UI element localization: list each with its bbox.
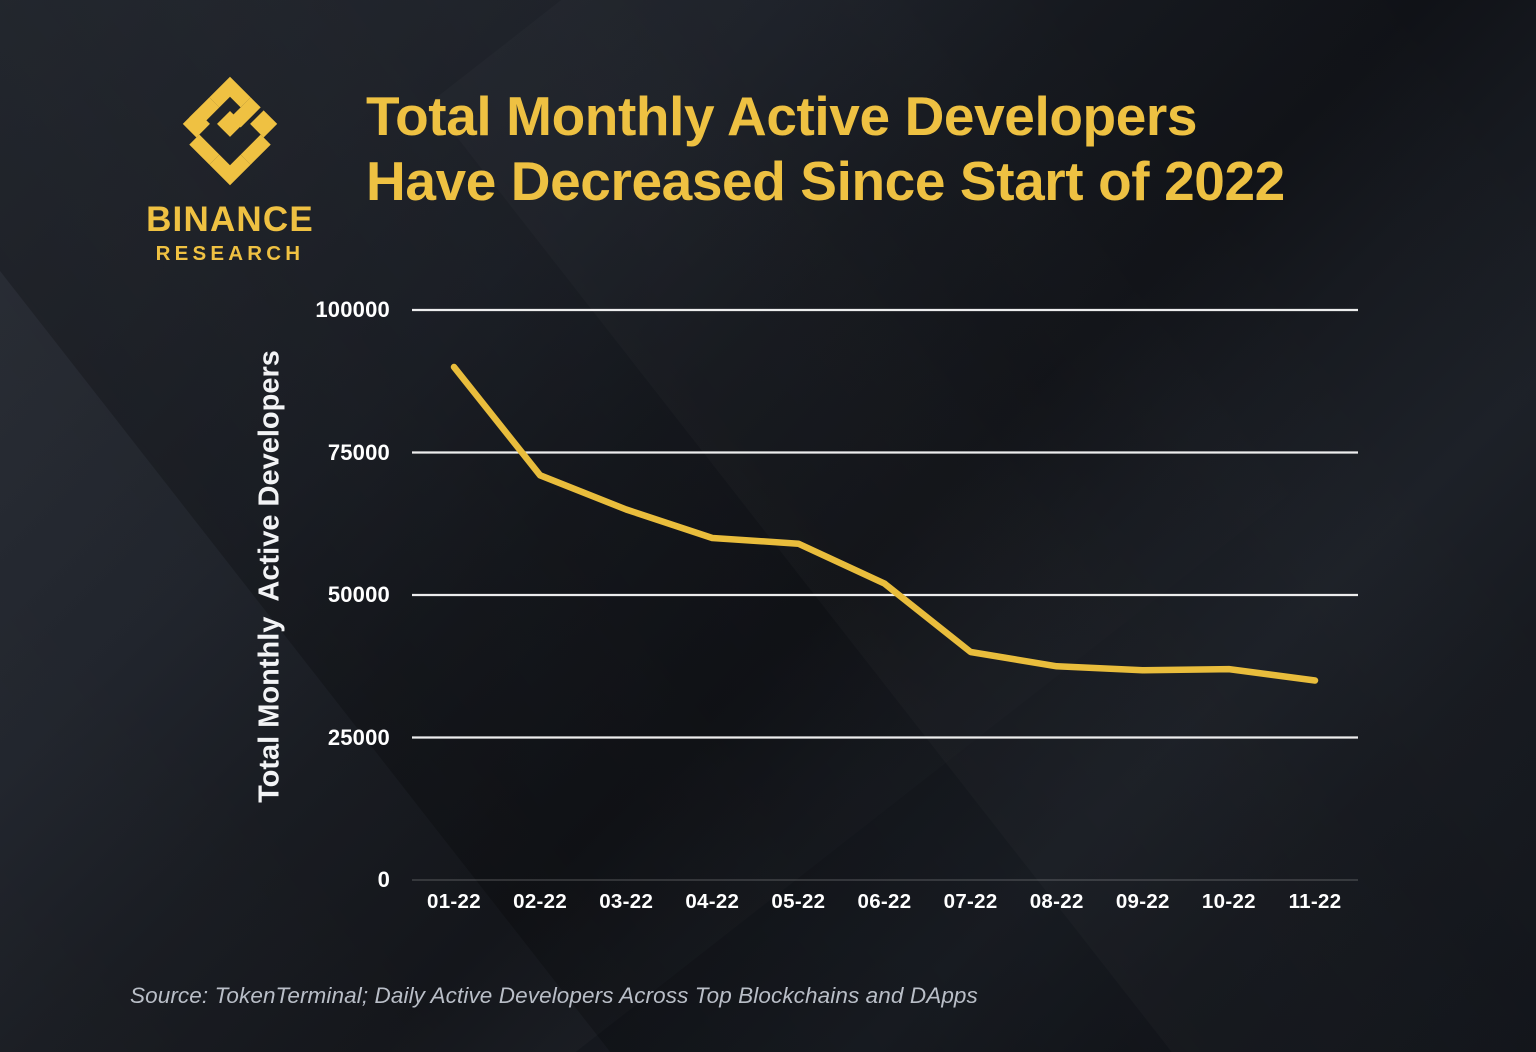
line-chart: Total Monthly Active Developers 02500050…: [0, 0, 1536, 1052]
plot-area: [0, 0, 1536, 1052]
infographic-poster: BINANCE RESEARCH Total Monthly Active De…: [0, 0, 1536, 1052]
source-note: Source: TokenTerminal; Daily Active Deve…: [130, 983, 978, 1009]
data-series: [454, 367, 1315, 681]
gridlines: [412, 310, 1358, 880]
series-line: [454, 367, 1315, 681]
